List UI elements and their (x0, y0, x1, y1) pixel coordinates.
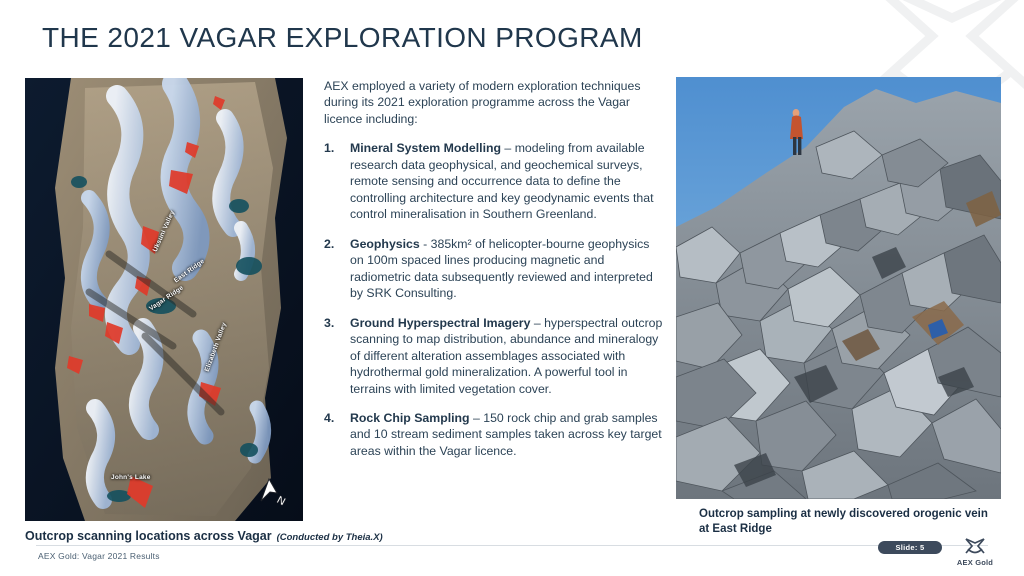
list-item: 1. Mineral System Modelling – modeling f… (324, 140, 664, 222)
brand-logo: AEX Gold (946, 529, 1004, 567)
intro-paragraph: AEX employed a variety of modern explora… (324, 78, 664, 127)
list-item: 2. Geophysics - 385km² of helicopter-bou… (324, 236, 664, 302)
outcrop-photo-image (676, 77, 1001, 499)
photo-figure (676, 77, 1001, 499)
list-item-text: Rock Chip Sampling – 150 rock chip and g… (350, 410, 664, 459)
list-item-lead: Mineral System Modelling (350, 141, 501, 155)
list-item-text: Geophysics - 385km² of helicopter-bourne… (350, 236, 664, 302)
map-figure-caption: Outcrop scanning locations across Vagar(… (25, 529, 383, 543)
map-caption-credit: (Conducted by Theia.X) (277, 532, 383, 543)
brand-name: AEX Gold (957, 558, 993, 567)
list-item-number: 2. (324, 236, 350, 302)
list-item-text: Mineral System Modelling – modeling from… (350, 140, 664, 222)
page-title: THE 2021 VAGAR EXPLORATION PROGRAM (42, 22, 643, 54)
list-item-number: 3. (324, 315, 350, 397)
map-label: John's Lake (111, 474, 151, 481)
list-item-lead: Ground Hyperspectral Imagery (350, 316, 530, 330)
status-badge: Slide: 5 (878, 541, 942, 554)
list-item: 3. Ground Hyperspectral Imagery – hypers… (324, 315, 664, 397)
map-figure: Uksuni Valley East Ridge Vagar Ridge Eli… (25, 78, 303, 521)
list-item-lead: Rock Chip Sampling (350, 411, 470, 425)
aex-gold-fox-icon (964, 537, 986, 557)
list-item-number: 1. (324, 140, 350, 222)
map-caption-main: Outcrop scanning locations across Vagar (25, 529, 272, 543)
svg-text:N: N (275, 494, 288, 507)
technique-list: 1. Mineral System Modelling – modeling f… (324, 140, 664, 459)
footer-divider (36, 545, 988, 546)
list-item: 4. Rock Chip Sampling – 150 rock chip an… (324, 410, 664, 459)
list-item-lead: Geophysics (350, 237, 420, 251)
list-item-text: Ground Hyperspectral Imagery – hyperspec… (350, 315, 664, 397)
body-content: AEX employed a variety of modern explora… (324, 78, 664, 472)
list-item-number: 4. (324, 410, 350, 459)
north-arrow-icon: N (255, 471, 289, 507)
footer-text: AEX Gold: Vagar 2021 Results (38, 551, 160, 561)
